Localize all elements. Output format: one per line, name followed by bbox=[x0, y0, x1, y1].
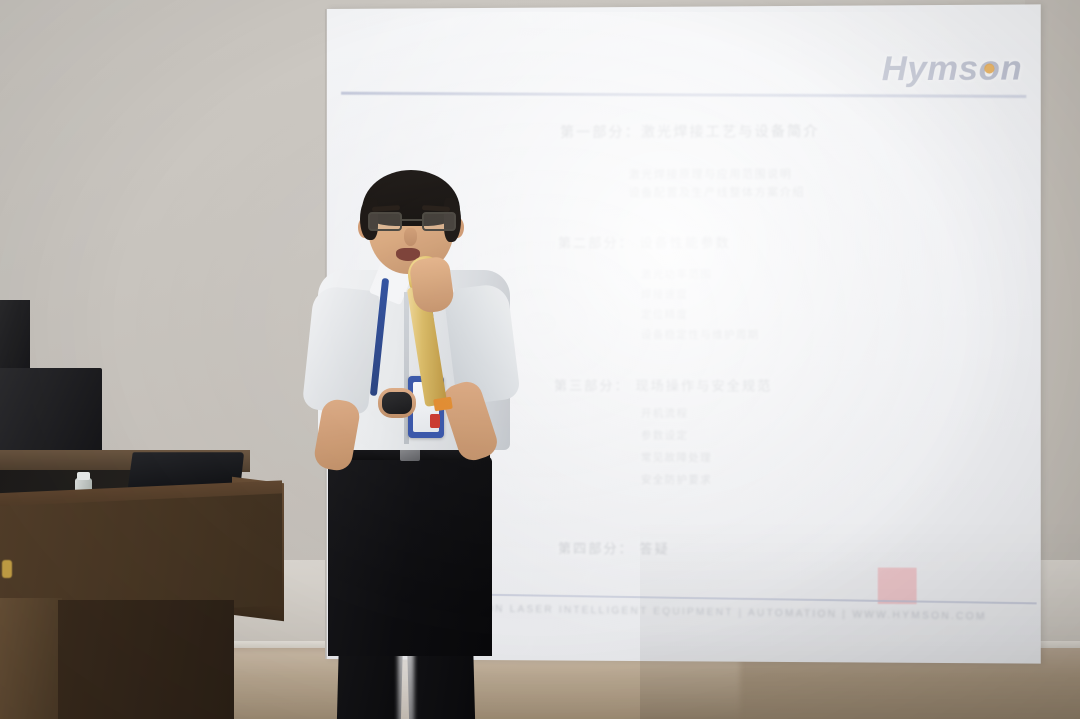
shirt-sleeve-left bbox=[302, 285, 381, 415]
slide-line-b3c: 常见故障处理 bbox=[641, 450, 712, 465]
lens-left bbox=[368, 212, 402, 231]
water-bottle-cap bbox=[77, 472, 90, 480]
speaker-box-upper bbox=[0, 300, 30, 372]
podium-base-left bbox=[0, 598, 62, 719]
presenter-trousers bbox=[328, 456, 492, 656]
lens-right bbox=[422, 212, 456, 231]
presenter bbox=[300, 160, 530, 719]
logo-text-after: n bbox=[1000, 49, 1022, 88]
slide-line-b2d: 设备稳定性与维护周期 bbox=[641, 327, 760, 342]
podium-base bbox=[58, 600, 234, 719]
slide-divider-rule bbox=[341, 92, 1026, 98]
nose bbox=[404, 228, 417, 246]
presentation-photo: Hymson 第一部分：激光焊接工艺与设备简介激光焊接原理与应用范围说明设备配置… bbox=[0, 0, 1080, 719]
slide-line-b3a: 开机流程 bbox=[641, 405, 688, 420]
slide-line-b2a: 激光功率范围 bbox=[641, 266, 712, 281]
logo-text-before: Hyms bbox=[882, 49, 979, 88]
slide-line-b3d: 安全防护要求 bbox=[641, 472, 712, 487]
slide-line-b2b: 焊接速度 bbox=[641, 287, 688, 302]
slide-line-sec4: 第四部分： 答疑 bbox=[558, 538, 670, 558]
hymson-logo: Hymson bbox=[882, 49, 1023, 89]
slide-line-title: 第一部分：激光焊接工艺与设备简介 bbox=[560, 121, 820, 142]
slide-line-sec2: 第二部分： 设备性能参数 bbox=[558, 232, 731, 251]
logo-o-glyph: o bbox=[979, 49, 1001, 88]
slide-line-b3b: 参数设定 bbox=[641, 428, 688, 443]
slide-line-b2c: 定位精度 bbox=[641, 307, 688, 322]
slide-accent-block bbox=[878, 568, 917, 605]
slide-line-sub1: 激光焊接原理与应用范围说明 bbox=[629, 165, 793, 182]
slide-line-sec3: 第三部分： 现场操作与安全规范 bbox=[554, 375, 772, 394]
glasses-bridge bbox=[402, 219, 422, 221]
podium-light bbox=[2, 560, 12, 578]
slide-line-sub2: 设备配置及生产线整体方案介绍 bbox=[629, 184, 805, 201]
presenter-clicker bbox=[382, 392, 412, 414]
lapel-pin bbox=[430, 414, 440, 428]
